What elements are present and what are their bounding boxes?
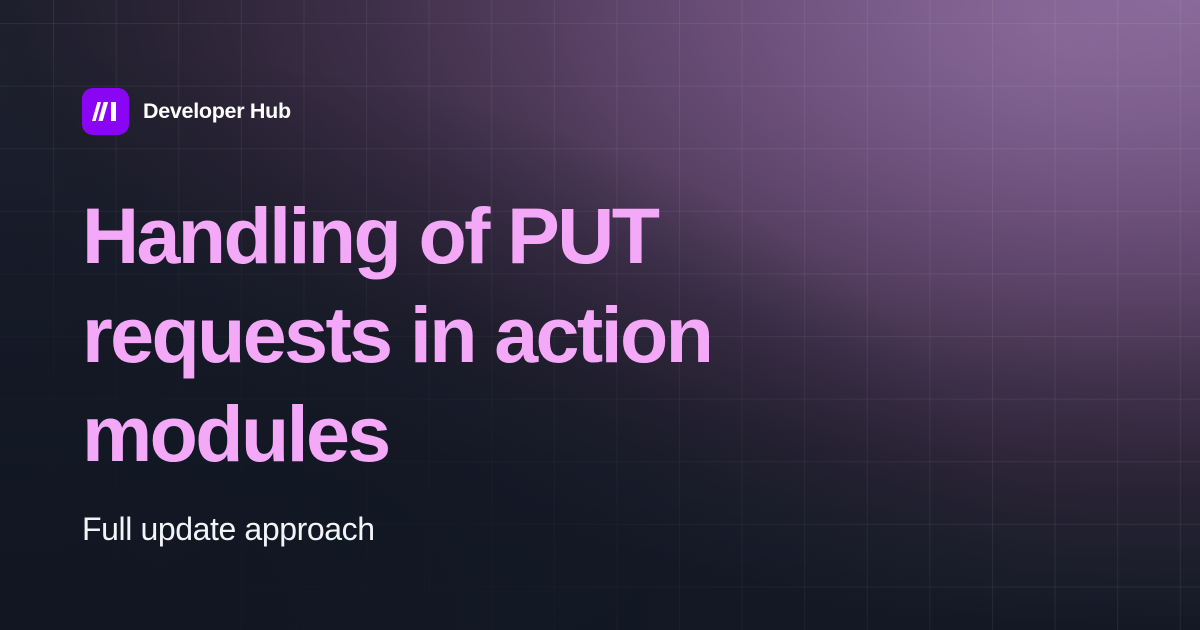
og-card: Developer Hub Handling of PUT requests i…	[0, 0, 1200, 630]
page-title: Handling of PUT requests in action modul…	[82, 186, 942, 483]
page-title-line-3: modules	[82, 384, 942, 483]
make-logo-icon	[82, 88, 129, 135]
page-subtitle: Full update approach	[82, 508, 375, 551]
card-content: Developer Hub Handling of PUT requests i…	[0, 0, 1200, 630]
brand-lockup: Developer Hub	[82, 88, 291, 135]
page-title-line-2: requests in action	[82, 285, 942, 384]
page-title-line-1: Handling of PUT	[82, 186, 942, 285]
brand-name: Developer Hub	[143, 101, 291, 123]
